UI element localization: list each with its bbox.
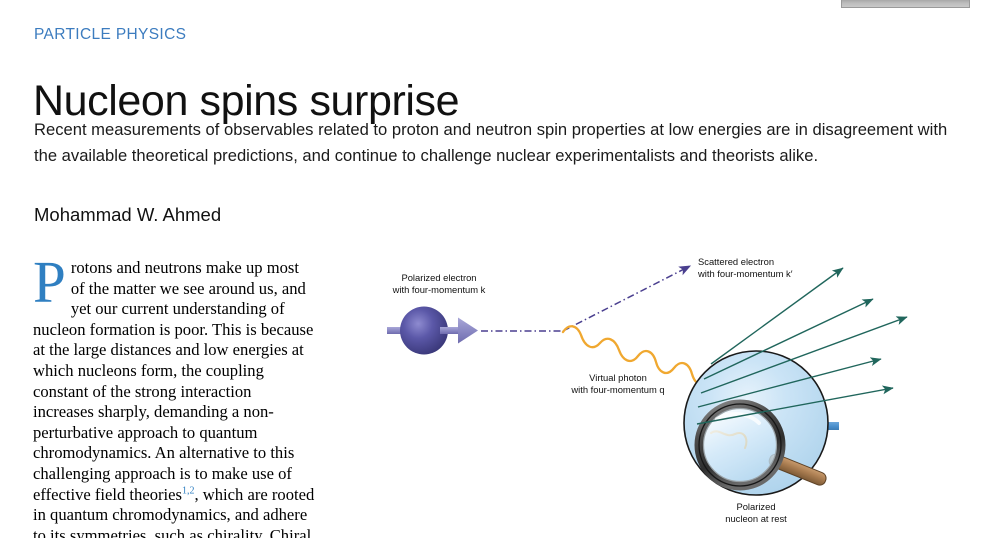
article-kicker: PARTICLE PHYSICS [34,26,186,44]
momentum-symbol-k: k [481,284,486,295]
article-byline: Mohammad W. Ahmed [34,204,221,226]
scattered-electron-trajectory [563,266,690,331]
body-paragraph: Protons and neutrons make up most of the… [33,258,315,538]
polarized-electron-label-prefix: with four-momentum [392,284,481,295]
article-standfirst: Recent measurements of observables relat… [34,117,949,168]
citation-reference[interactable]: 1,2 [182,485,195,496]
window-scrollbar[interactable] [841,0,970,8]
nucleon-label-line2: nucleon at rest [725,513,787,524]
magnifier-lens-glass [704,409,777,482]
scattering-diagram-figure: Polarized electron with four-momentum k … [345,243,982,538]
polarized-electron-label-line1: Polarized electron [401,272,476,283]
body-text-part-1: rotons and neutrons make up most of the … [33,258,313,504]
nucleon-label-line1: Polarized [736,501,775,512]
hadron-arrow-1 [711,268,843,364]
dropcap-letter: P [33,258,71,305]
virtual-photon-label-prefix: with four-momentum [570,384,659,395]
scattered-electron-label-line1: Scattered electron [698,256,774,267]
article-body-column: Protons and neutrons make up most of the… [33,258,315,538]
electron-spin-arrowhead [458,318,478,344]
momentum-symbol-q: q [659,384,664,395]
virtual-photon-label-line2: with four-momentum q [570,384,664,395]
momentum-symbol-k-prime: k′ [786,268,793,279]
polarized-electron-label-line2: with four-momentum k [392,284,486,295]
scattered-electron-label-line2: with four-momentum k′ [697,268,793,279]
virtual-photon-label-line1: Virtual photon [589,372,647,383]
scattered-electron-label-prefix: with four-momentum [697,268,786,279]
